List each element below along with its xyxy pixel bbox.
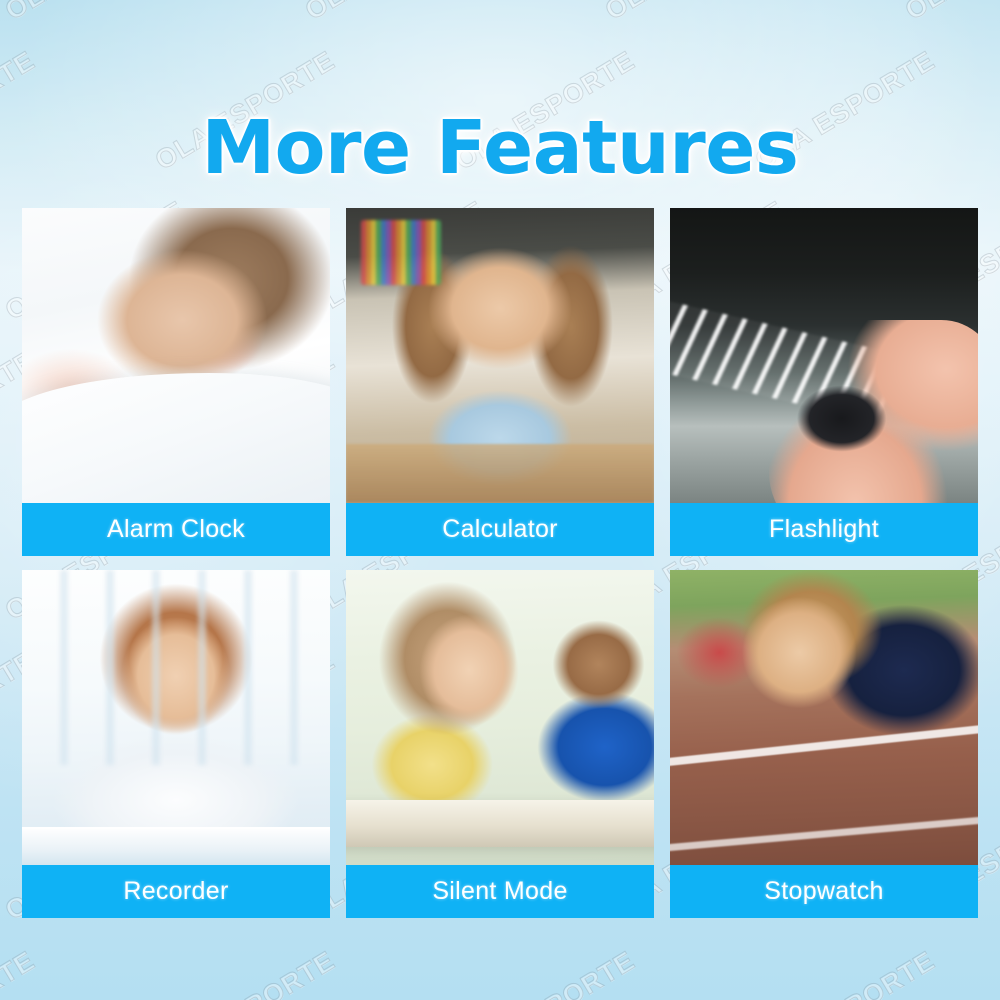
feature-photo <box>22 208 330 503</box>
feature-photo-image <box>670 570 978 865</box>
watermark-text: OLA ESPORTE <box>150 945 340 1000</box>
feature-caption: Flashlight <box>670 503 978 556</box>
feature-caption-label: Flashlight <box>769 515 879 544</box>
watermark-text: OLA ESPORTE <box>600 0 790 27</box>
feature-photo <box>670 570 978 865</box>
feature-photo <box>346 208 654 503</box>
feature-caption-label: Alarm Clock <box>107 515 245 544</box>
feature-caption: Silent Mode <box>346 865 654 918</box>
feature-card: Recorder <box>22 570 330 918</box>
watermark-text: OLA ESPORTE <box>300 0 490 27</box>
feature-card: Alarm Clock <box>22 208 330 556</box>
feature-photo <box>670 208 978 503</box>
feature-photo-image <box>670 208 978 503</box>
feature-caption: Recorder <box>22 865 330 918</box>
feature-card: Flashlight <box>670 208 978 556</box>
feature-photo <box>346 570 654 865</box>
feature-caption-label: Calculator <box>442 515 558 544</box>
watermark-text: OLA ESPORTE <box>900 0 1000 27</box>
feature-caption-label: Stopwatch <box>764 877 883 906</box>
feature-photo-image <box>22 570 330 865</box>
feature-card: Silent Mode <box>346 570 654 918</box>
watermark-text: OLA ESPORTE <box>0 945 40 1000</box>
feature-caption: Stopwatch <box>670 865 978 918</box>
page-title: More Features <box>0 108 1000 188</box>
feature-card: Stopwatch <box>670 570 978 918</box>
feature-caption: Calculator <box>346 503 654 556</box>
feature-photo-image <box>346 570 654 865</box>
feature-caption-label: Silent Mode <box>432 877 567 906</box>
features-grid: Alarm ClockCalculatorFlashlightRecorderS… <box>22 208 978 918</box>
feature-photo <box>22 570 330 865</box>
watermark-text: OLA ESPORTE <box>450 945 640 1000</box>
watermark-text: OLA ESPORTE <box>0 0 190 27</box>
feature-card: Calculator <box>346 208 654 556</box>
feature-caption: Alarm Clock <box>22 503 330 556</box>
feature-caption-label: Recorder <box>123 877 228 906</box>
watermark-text: OLA ESPORTE <box>750 945 940 1000</box>
feature-grid-page: OLA ESPORTEOLA ESPORTEOLA ESPORTEOLA ESP… <box>0 0 1000 1000</box>
feature-photo-image <box>22 208 330 503</box>
feature-photo-image <box>346 208 654 503</box>
